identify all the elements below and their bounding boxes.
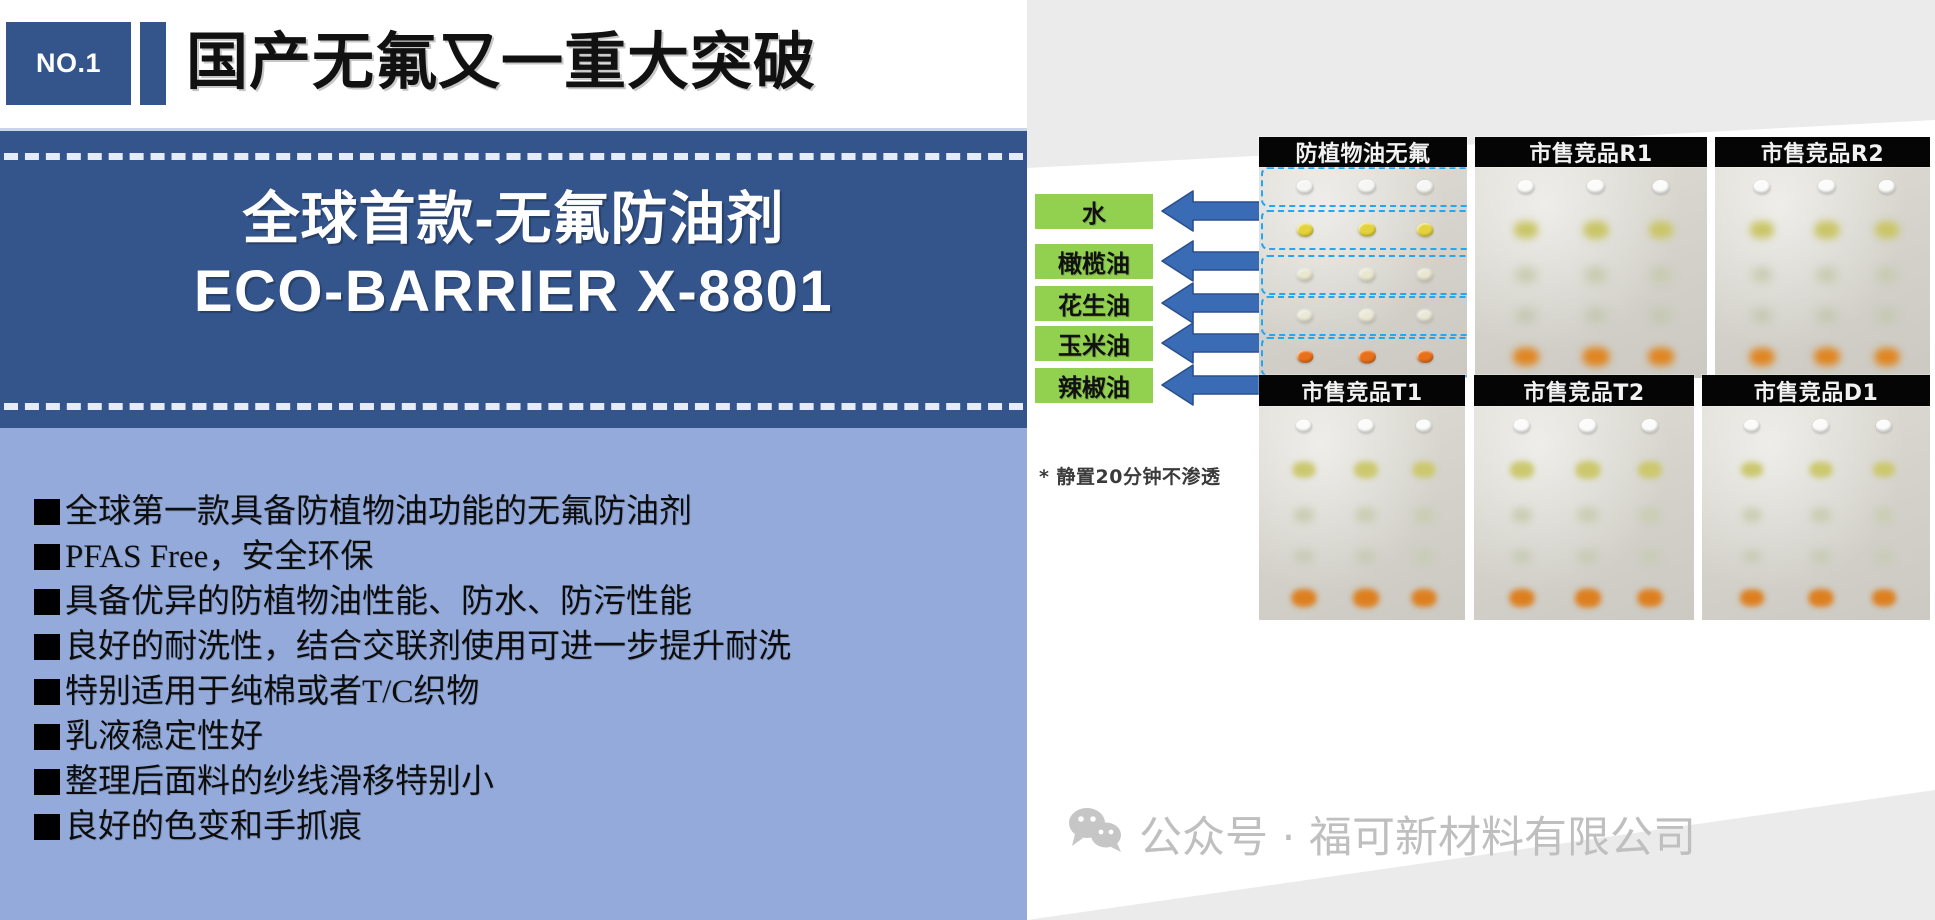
- test-swatch-4: [1259, 402, 1465, 620]
- test-droplet: [1296, 419, 1312, 432]
- test-droplet: [1356, 549, 1377, 564]
- feature-bullet: 乳液稳定性好: [34, 715, 1014, 759]
- test-droplet: [1585, 267, 1607, 283]
- test-droplet: [1516, 308, 1537, 323]
- hero-headline-en: ECO-BARRIER X-8801: [0, 255, 1027, 329]
- test-footnote: * 静置20分钟不渗透: [1039, 462, 1221, 489]
- bullet-square-icon: [34, 769, 60, 795]
- panel-title-3: 市售竞品R2: [1715, 137, 1930, 167]
- feature-bullet-label: 良好的色变和手抓痕: [65, 805, 362, 849]
- slide-root: NO.1 国产无氟又一重大突破 全球首款-无氟防油剂 ECO-BARRIER X…: [0, 0, 1935, 920]
- test-droplet: [1414, 550, 1434, 564]
- test-droplet: [1576, 461, 1601, 479]
- test-droplet: [1294, 550, 1314, 564]
- test-droplet: [1741, 462, 1763, 478]
- test-droplet: [1575, 589, 1601, 608]
- no-penetration-highlight-3: [1261, 255, 1467, 295]
- test-droplet: [1650, 308, 1671, 323]
- test-droplet: [1582, 347, 1609, 366]
- test-droplet: [1808, 589, 1833, 607]
- hero-dashed-top: [4, 153, 1023, 160]
- hero-dashed-bottom: [4, 403, 1023, 410]
- test-droplet: [1585, 308, 1607, 324]
- legend-chip-5: 辣椒油: [1035, 368, 1153, 403]
- feature-bullet-label: 具备优异的防植物油性能、防水、防污性能: [65, 580, 692, 624]
- feature-bullet: 特别适用于纯棉或者T/C织物: [34, 670, 1014, 714]
- legend-chip-4: 玉米油: [1035, 326, 1153, 361]
- test-droplet: [1650, 267, 1671, 282]
- test-droplet: [1872, 590, 1896, 607]
- test-droplet: [1812, 419, 1829, 433]
- bullet-square-icon: [34, 589, 60, 615]
- test-droplet: [1583, 221, 1608, 239]
- test-droplet: [1743, 509, 1762, 523]
- test-droplet: [1740, 590, 1764, 607]
- test-droplet: [1514, 221, 1538, 238]
- test-droplet: [1743, 550, 1762, 564]
- no1-badge: NO.1: [6, 22, 131, 105]
- slide-header: NO.1 国产无氟又一重大突破: [0, 0, 1027, 130]
- test-droplet: [1293, 461, 1316, 478]
- test-droplet: [1744, 419, 1760, 432]
- hero-text-group: 全球首款-无氟防油剂 ECO-BARRIER X-8801: [0, 183, 1027, 329]
- test-droplet: [1358, 419, 1375, 433]
- test-droplet: [1873, 462, 1895, 478]
- test-droplet: [1416, 419, 1432, 432]
- test-droplet: [1877, 308, 1897, 322]
- test-droplet: [1750, 221, 1774, 238]
- feature-bullet: 全球第一款具备防植物油功能的无氟防油剂: [34, 490, 1014, 534]
- panel-title-6: 市售竞品D1: [1702, 375, 1930, 406]
- feature-bullet-label: 整理后面料的纱线滑移特别小: [65, 760, 494, 804]
- test-droplet: [1411, 589, 1436, 607]
- test-droplet: [1875, 221, 1899, 238]
- test-swatch-3: [1715, 163, 1930, 378]
- watermark-text: 公众号 · 福可新材料有限公司: [1139, 803, 1696, 865]
- page-title: 国产无氟又一重大突破: [186, 19, 816, 107]
- test-droplet: [1512, 508, 1532, 522]
- test-droplet: [1649, 221, 1673, 238]
- test-droplet: [1513, 347, 1539, 366]
- test-droplet: [1814, 221, 1839, 239]
- test-droplet: [1638, 589, 1663, 607]
- feature-bullet: 良好的色变和手抓痕: [34, 805, 1014, 849]
- bullet-square-icon: [34, 499, 60, 525]
- test-droplet: [1356, 508, 1377, 523]
- test-droplet: [1809, 461, 1832, 478]
- feature-bullet-label: 良好的耐洗性，结合交联剂使用可进一步提升耐洗: [65, 625, 791, 669]
- no-penetration-highlight-1: [1261, 167, 1467, 207]
- test-droplet: [1875, 348, 1900, 366]
- test-droplet: [1510, 461, 1534, 478]
- test-droplet: [1754, 180, 1771, 194]
- feature-bullet: 良好的耐洗性，结合交联剂使用可进一步提升耐洗: [34, 625, 1014, 669]
- test-droplet: [1294, 508, 1314, 522]
- test-droplet: [1514, 419, 1531, 433]
- test-droplet: [1816, 267, 1837, 282]
- test-droplet: [1640, 508, 1660, 522]
- bullet-square-icon: [34, 724, 60, 750]
- test-droplet: [1875, 509, 1894, 523]
- test-droplet: [1875, 550, 1894, 564]
- bullet-square-icon: [34, 679, 60, 705]
- panel-title-2: 市售竞品R1: [1475, 137, 1707, 167]
- test-droplet: [1811, 508, 1831, 522]
- test-swatch-2: [1475, 163, 1707, 378]
- feature-bullet: 整理后面料的纱线滑移特别小: [34, 760, 1014, 804]
- test-droplet: [1512, 550, 1532, 564]
- test-droplet: [1814, 347, 1840, 366]
- test-droplet: [1516, 267, 1537, 282]
- features-panel: 全球第一款具备防植物油功能的无氟防油剂 PFAS Free，安全环保具备优异的防…: [0, 428, 1027, 920]
- test-droplet: [1750, 348, 1775, 366]
- feature-bullet-list: 全球第一款具备防植物油功能的无氟防油剂 PFAS Free，安全环保具备优异的防…: [34, 490, 1014, 850]
- bullet-square-icon: [34, 814, 60, 840]
- no-penetration-highlight-5: [1261, 337, 1467, 377]
- panel-title-4: 市售竞品T1: [1259, 375, 1465, 406]
- right-media-column: 水橄榄油花生油玉米油辣椒油 * 静置20分钟不渗透 防植物油无氟市售竞品R1市售…: [1027, 0, 1935, 920]
- legend-chip-1: 水: [1035, 194, 1153, 229]
- test-droplet: [1642, 419, 1659, 433]
- test-droplet: [1652, 180, 1669, 194]
- test-droplet: [1877, 268, 1897, 282]
- panel-title-1: 防植物油无氟: [1259, 137, 1467, 167]
- test-droplet: [1640, 550, 1660, 564]
- feature-bullet-label: 乳液稳定性好: [65, 715, 263, 759]
- header-accent-bar: [140, 22, 166, 105]
- test-droplet: [1811, 550, 1831, 564]
- hero-headline-cn: 全球首款-无氟防油剂: [0, 183, 1027, 255]
- test-droplet: [1648, 347, 1674, 366]
- feature-bullet: 具备优异的防植物油性能、防水、防污性能: [34, 580, 1014, 624]
- test-droplet: [1292, 589, 1317, 607]
- no-penetration-highlight-4: [1261, 296, 1467, 336]
- feature-bullet-label: PFAS Free，安全环保: [65, 535, 373, 579]
- test-droplet: [1752, 268, 1772, 282]
- test-droplet: [1816, 308, 1837, 323]
- feature-bullet-label: 全球第一款具备防植物油功能的无氟防油剂: [65, 490, 692, 534]
- legend-chip-3: 花生油: [1035, 286, 1153, 321]
- test-droplet: [1510, 589, 1535, 607]
- test-droplet: [1578, 508, 1599, 523]
- test-droplet: [1752, 308, 1772, 322]
- test-droplet: [1876, 419, 1892, 432]
- test-droplet: [1518, 180, 1535, 194]
- test-droplet: [1818, 179, 1836, 194]
- watermark: 公众号 · 福可新材料有限公司: [1067, 803, 1696, 865]
- test-droplet: [1879, 180, 1896, 194]
- test-swatch-1: [1259, 163, 1467, 378]
- test-droplet: [1638, 461, 1662, 478]
- no-penetration-highlight-2: [1261, 210, 1467, 250]
- wechat-icon: [1067, 806, 1125, 863]
- test-droplet: [1353, 589, 1379, 608]
- panel-title-5: 市售竞品T2: [1474, 375, 1694, 406]
- test-droplet: [1578, 549, 1599, 564]
- bullet-square-icon: [34, 544, 60, 570]
- left-content-column: NO.1 国产无氟又一重大突破 全球首款-无氟防油剂 ECO-BARRIER X…: [0, 0, 1027, 920]
- test-swatch-5: [1474, 402, 1694, 620]
- test-droplet: [1412, 461, 1435, 478]
- legend-chip-2: 橄榄油: [1035, 244, 1153, 279]
- test-droplet: [1414, 508, 1434, 522]
- hero-banner: 全球首款-无氟防油剂 ECO-BARRIER X-8801: [0, 131, 1027, 428]
- test-droplet: [1587, 179, 1605, 194]
- feature-bullet: PFAS Free，安全环保: [34, 535, 1014, 579]
- test-droplet: [1579, 419, 1597, 434]
- bullet-square-icon: [34, 634, 60, 660]
- feature-bullet-label: 特别适用于纯棉或者T/C织物: [65, 670, 479, 714]
- test-droplet: [1354, 461, 1378, 478]
- test-swatch-6: [1702, 402, 1930, 620]
